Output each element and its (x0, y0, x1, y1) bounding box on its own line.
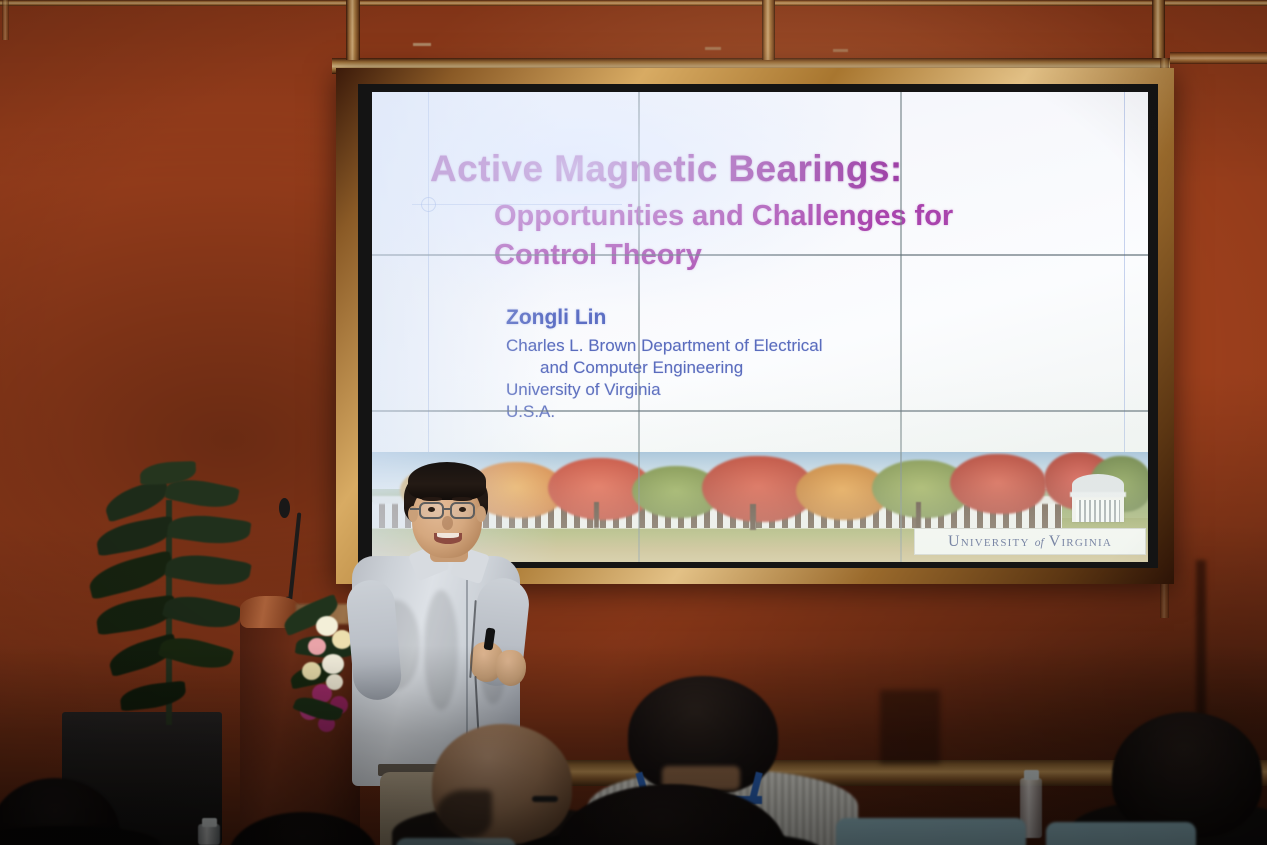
audience-bald-head (432, 724, 572, 844)
chair-center (396, 838, 516, 845)
presenter-eye-left (428, 507, 435, 512)
presenter-brow-left (422, 497, 442, 501)
audience-right-head (1112, 712, 1262, 838)
rotunda-dome (1072, 474, 1124, 496)
rotunda-columns (1076, 500, 1120, 522)
uva-logo-word2: Virginia (1049, 533, 1112, 550)
uva-logo-of: of (1035, 537, 1044, 549)
slide-affiliation-line2: and Computer Engineering (540, 358, 743, 378)
slide-subtitle-line1: Opportunities and Challenges for (494, 200, 953, 233)
flower-white-2 (322, 654, 344, 674)
video-wall-seam-vertical-2 (900, 92, 902, 562)
uva-logo-text: University of Virginia (948, 533, 1112, 551)
glasses-arm (410, 508, 420, 510)
flower-white-3 (326, 674, 343, 690)
tree-trunk-2 (750, 504, 756, 530)
chair-left (836, 818, 1026, 845)
tree-trunk-3 (916, 502, 921, 530)
glasses-bridge (443, 508, 451, 510)
video-wall-seam-horizontal-1 (372, 254, 1148, 256)
tree-red-3 (950, 454, 1046, 514)
uva-logo-word1: University (948, 533, 1030, 550)
conference-photo: Active Magnetic Bearings: Opportunities … (0, 0, 1267, 845)
slide-author: Zongli Lin (506, 306, 606, 330)
campus-photo-band: University of Virginia (372, 452, 1148, 562)
water-bottle-3 (198, 824, 220, 845)
presenter-hair-top (408, 462, 486, 500)
video-wall-seam-horizontal-2 (372, 410, 1148, 412)
tree-trunk-1 (594, 502, 599, 528)
upper-panel-brass-seam-right (1170, 52, 1267, 64)
presenter-teeth (437, 533, 459, 538)
water-bottle-3-cap (202, 818, 217, 827)
presenter-hand-right (496, 650, 526, 686)
slide-guide-circle (421, 197, 436, 212)
water-bottle-1-cap (1024, 770, 1039, 780)
chair-right (1046, 822, 1196, 845)
presenter-brow-right (452, 497, 472, 501)
brass-pilaster-left (346, 0, 360, 60)
presenter-eye-right (459, 507, 466, 512)
presentation-screen: Active Magnetic Bearings: Opportunities … (372, 92, 1148, 562)
uva-logo: University of Virginia (914, 528, 1146, 555)
brass-pilaster-right (1152, 0, 1165, 58)
brass-pilaster-far-left (2, 0, 9, 40)
presenter-nose (442, 516, 453, 530)
brass-pilaster-mid (762, 0, 775, 60)
presenter-ear-right (476, 506, 486, 522)
slide-affiliation-line4: U.S.A. (506, 402, 555, 422)
video-wall-seam-vertical-1 (638, 92, 640, 562)
slide-affiliation-line1: Charles L. Brown Department of Electrica… (506, 336, 823, 356)
slide-title: Active Magnetic Bearings: (430, 148, 903, 190)
shirt-fold-2 (424, 590, 458, 710)
flower-pink-1 (308, 638, 326, 655)
ceiling-brass-trim (0, 0, 1267, 6)
microphone-head (279, 498, 290, 518)
flower-cream-2 (302, 662, 321, 680)
